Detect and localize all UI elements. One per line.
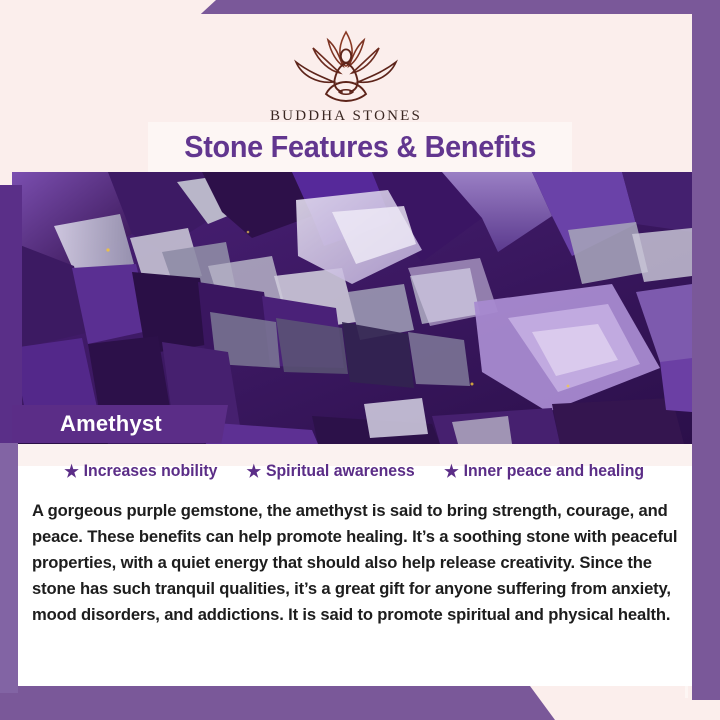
benefit-item: ★ Spiritual awareness [247, 462, 415, 481]
benefit-item: ★ Inner peace and healing [444, 462, 644, 481]
benefit-label: Inner peace and healing [464, 462, 644, 481]
star-icon: ★ [444, 463, 459, 480]
page-title: Stone Features & Benefits [184, 129, 536, 165]
benefit-label: Increases nobility [84, 462, 218, 481]
stone-name-label: Amethyst [60, 411, 162, 437]
stone-name-tab: Amethyst [12, 405, 228, 443]
benefits-row: ★ Increases nobility ★ Spiritual awarene… [18, 462, 692, 481]
star-icon: ★ [65, 463, 80, 480]
benefit-label: Spiritual awareness [266, 462, 415, 481]
star-icon: ★ [247, 463, 262, 480]
content-panel: ★ Increases nobility ★ Spiritual awarene… [18, 444, 692, 686]
photo-left-accent-bar [0, 185, 22, 443]
page-title-band: Stone Features & Benefits [148, 122, 572, 172]
benefit-item: ★ Increases nobility [65, 462, 218, 481]
amethyst-photo [12, 172, 692, 444]
lotus-meditation-icon [286, 28, 406, 104]
frame-right-border [692, 0, 720, 700]
frame-left-accent-bar [0, 443, 18, 693]
stone-description: A gorgeous purple gemstone, the amethyst… [32, 498, 680, 628]
